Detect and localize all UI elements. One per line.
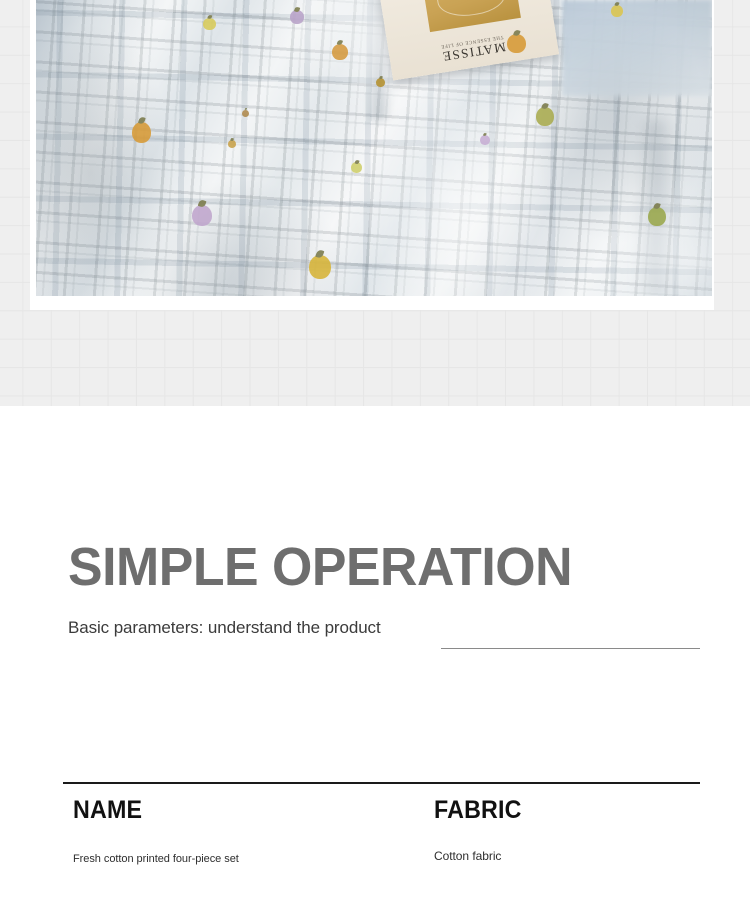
spec-label-fabric: FABRIC xyxy=(434,798,522,823)
grape-fruit-motif xyxy=(192,205,212,226)
section-subheading: Basic parameters: understand the product xyxy=(68,618,381,638)
flower-motif xyxy=(351,162,362,173)
fabric-fold-shading xyxy=(36,0,712,296)
lemon-fruit-motif-2 xyxy=(309,255,331,279)
spec-label-name: NAME xyxy=(73,798,227,823)
floret-motif xyxy=(480,135,490,145)
seed-motif xyxy=(228,140,236,148)
bud-motif xyxy=(376,78,385,87)
section-heading: SIMPLE OPERATION xyxy=(68,540,572,594)
subheading-rule xyxy=(441,648,700,649)
spec-column-name: NAME Fresh cotton printed four-piece set xyxy=(73,798,239,865)
plum-fruit-motif xyxy=(290,10,304,24)
lime-fruit-motif xyxy=(536,107,554,126)
spec-column-fabric: FABRIC Cotton fabric xyxy=(434,798,528,863)
berry-motif xyxy=(242,110,249,117)
lemon-fruit-motif xyxy=(203,18,216,30)
orange-fruit-motif xyxy=(132,122,151,143)
spec-value-fabric: Cotton fabric xyxy=(434,849,528,863)
lemon-fruit-motif-3 xyxy=(611,5,623,17)
apricot-fruit-motif xyxy=(332,44,348,60)
spec-table-divider xyxy=(63,782,700,784)
hero-grid-background: THE ESSENCE OF LIFE MATISSE xyxy=(0,0,750,406)
product-photo[interactable]: THE ESSENCE OF LIFE MATISSE xyxy=(36,0,712,296)
spec-value-name: Fresh cotton printed four-piece set xyxy=(73,853,239,865)
pear-fruit-motif xyxy=(648,207,666,226)
product-photo-frame: THE ESSENCE OF LIFE MATISSE xyxy=(30,0,714,310)
specification-section: SIMPLE OPERATION Basic parameters: under… xyxy=(0,406,750,900)
book-cover-illustration xyxy=(421,0,521,32)
orange-fruit-motif-2 xyxy=(507,34,526,53)
